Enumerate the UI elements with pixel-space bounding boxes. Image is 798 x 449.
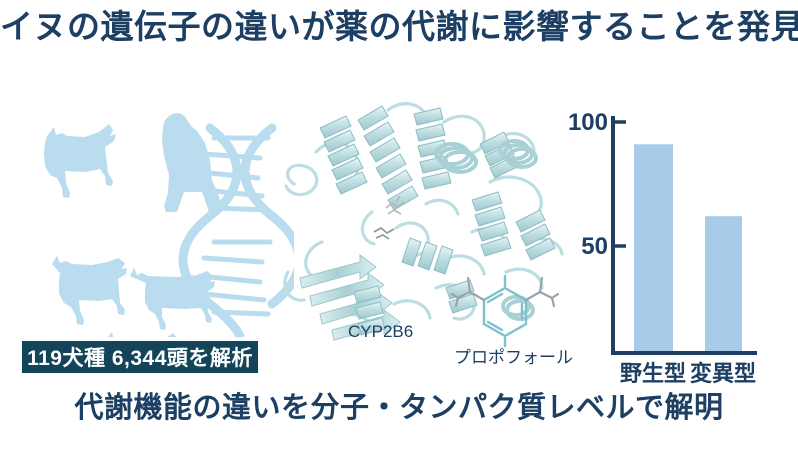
bar-chart-svg: 100 50 野生型 変異型 <box>560 100 790 385</box>
propofol-molecule-svg <box>450 274 560 348</box>
dog-silhouettes-svg <box>14 92 294 337</box>
helix-h <box>516 210 555 260</box>
y-tick-label-50: 50 <box>581 233 608 260</box>
activity-bar-chart: 100 50 野生型 変異型 <box>560 100 790 385</box>
protein-name-label: CYP2B6 <box>348 322 413 342</box>
page-subtitle: 代謝機能の違いを分子・タンパク質レベルで解明 <box>0 392 798 425</box>
helix-g <box>472 192 511 256</box>
infographic-root: イヌの遺伝子の違いが薬の代謝に影響することを発見 <box>0 0 798 449</box>
dog-silhouette-6 <box>104 332 181 337</box>
helix-a <box>320 116 367 194</box>
protein-structure-illustration <box>276 92 576 367</box>
page-title: イヌの遺伝子の違いが薬の代謝に影響することを発見 <box>0 8 798 46</box>
dog-silhouette-3 <box>52 256 127 325</box>
helix-b <box>358 106 418 210</box>
helix-i <box>402 238 453 274</box>
active-site-sticks <box>374 228 394 239</box>
bar-mutant <box>705 216 742 353</box>
dog-dna-illustration <box>14 92 294 337</box>
bar-wild-type <box>634 144 673 353</box>
status-badge: 119犬種 6,344頭を解析 <box>22 341 258 373</box>
dog-silhouette-1 <box>44 124 116 198</box>
x-category-label-0: 野生型 <box>620 361 686 385</box>
ligand-name-label: プロポフォール <box>454 343 573 368</box>
x-category-label-1: 変異型 <box>690 361 756 385</box>
helix-e <box>480 132 519 178</box>
y-tick-label-100: 100 <box>568 109 608 136</box>
